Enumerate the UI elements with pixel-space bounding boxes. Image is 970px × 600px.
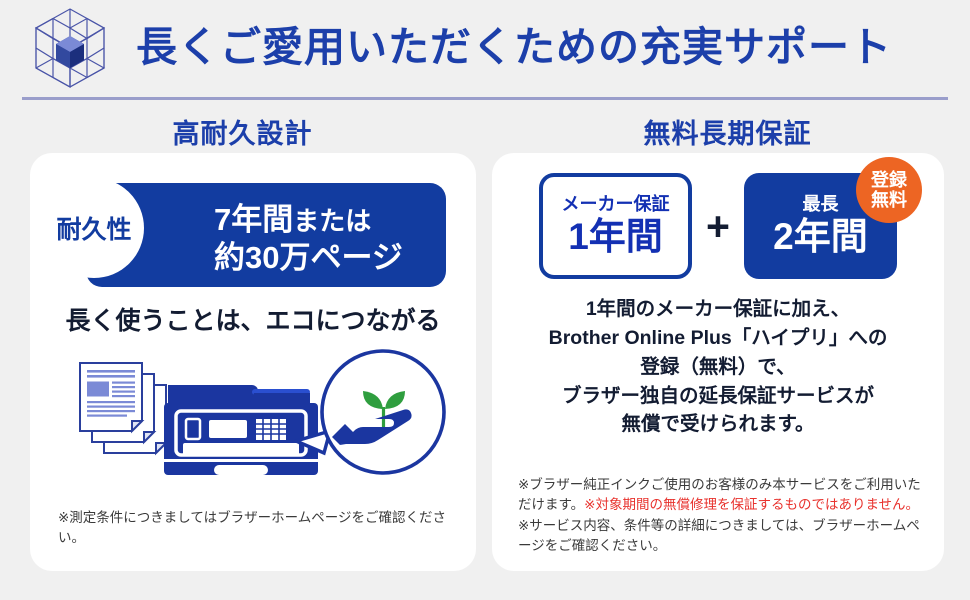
brand-logo xyxy=(22,5,118,91)
printer-icon xyxy=(164,385,318,475)
warranty-body-line-2: Brother Online Plus「ハイプリ」への xyxy=(492,324,944,353)
printed-documents-icon xyxy=(80,363,166,453)
warranty-body-line-1: 1年間のメーカー保証に加え、 xyxy=(492,295,944,324)
warranty-note: ※ブラザー純正インクご使用のお客様のみ本サービスをご利用いただけます。※対象期間… xyxy=(518,475,922,556)
durability-card: 7年間または 約30万ページ 耐久性 長く使うことは、エコにつながる xyxy=(30,153,476,571)
section-heading-durability: 高耐久設計 xyxy=(0,112,485,151)
durability-badge: 耐久性 xyxy=(44,178,144,278)
page-header: 長くご愛用いただくための充実サポート xyxy=(0,0,970,95)
durability-years-unit: 年間 xyxy=(231,202,293,237)
page-title: 長くご愛用いただくための充実サポート xyxy=(136,27,892,68)
warranty-box-2-label: 最長 xyxy=(802,195,838,213)
printer-eco-illustration xyxy=(40,343,470,483)
warranty-box-1-label: メーカー保証 xyxy=(562,195,670,213)
warranty-body-line-3: 登録（無料）で、 xyxy=(492,353,944,382)
durability-or: または xyxy=(293,206,371,236)
warranty-box-manufacturer: メーカー保証 1年間 xyxy=(539,173,692,279)
eco-hand-sprout-speech-bubble-icon xyxy=(296,351,444,473)
registration-free-badge: 登録 無料 xyxy=(856,157,922,223)
warranty-body-line-4: ブラザー独自の延長保証サービスが xyxy=(492,382,944,411)
registration-badge-line-2: 無料 xyxy=(871,190,907,210)
warranty-card: メーカー保証 1年間 + 最長 2年間 登録 無料 1年間のメーカー保証に加え、… xyxy=(492,153,944,571)
section-heading-warranty: 無料長期保証 xyxy=(485,112,970,151)
durability-line-2: 約30万ページ xyxy=(214,239,514,277)
warranty-box-2-value: 2年間 xyxy=(773,218,868,257)
warranty-note-part-2: ※サービス内容、条件等の詳細につきましては、ブラザーホームページをご確認ください… xyxy=(518,518,920,553)
durability-line-1: 7年間または xyxy=(214,201,514,239)
warranty-box-1-value: 1年間 xyxy=(568,218,663,257)
warranty-note-disclaimer: ※対象期間の無償修理を保証するものではありません。 xyxy=(584,497,919,512)
durability-note: ※測定条件につきましてはブラザーホームページをご確認ください。 xyxy=(58,508,454,549)
header-divider xyxy=(22,97,948,100)
registration-badge-line-1: 登録 xyxy=(871,170,907,190)
warranty-body-line-5: 無償で受けられます。 xyxy=(492,410,944,439)
eco-tagline: 長く使うことは、エコにつながる xyxy=(30,301,476,337)
warranty-body-text: 1年間のメーカー保証に加え、 Brother Online Plus「ハイプリ」… xyxy=(492,295,944,439)
isometric-cube-lattice-icon xyxy=(24,6,116,90)
durability-years-number: 7 xyxy=(214,202,231,237)
durability-banner-text: 7年間または 約30万ページ xyxy=(214,201,514,277)
plus-operator: + xyxy=(706,206,730,247)
